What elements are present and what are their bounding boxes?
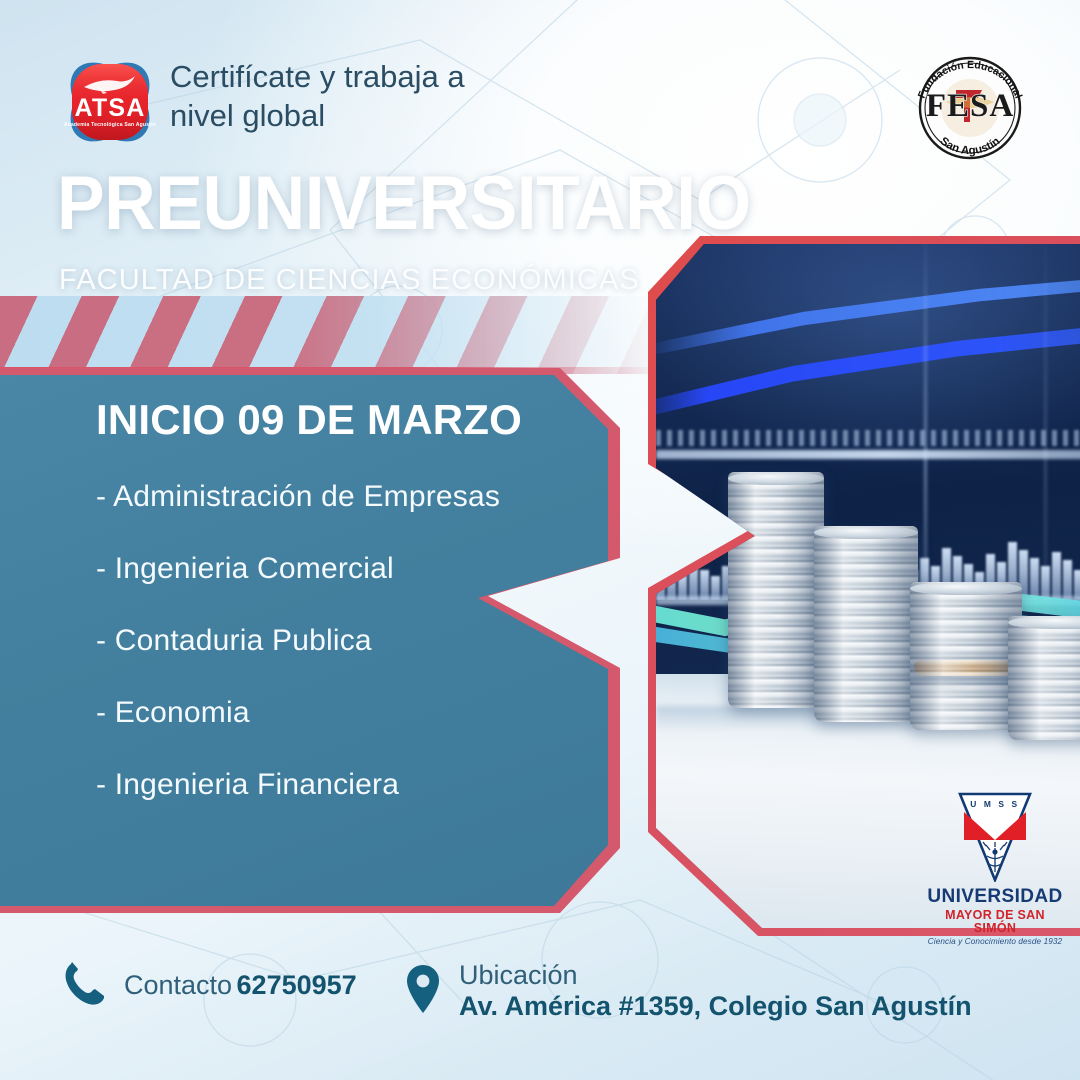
fesa-wordmark: FESA	[926, 88, 1014, 124]
contact-value[interactable]: 62750957	[237, 970, 357, 1000]
stripe-hatch	[0, 296, 660, 374]
phone-icon	[62, 960, 106, 1011]
atsa-wordmark: ATSA	[75, 94, 146, 122]
umss-subtitle: MAYOR DE SAN SIMÓN	[925, 909, 1065, 934]
course-list: - Administración de Empresas - Ingenieri…	[96, 480, 616, 802]
footer: Contacto 62750957 Ubicación Av. América …	[0, 946, 1080, 1056]
contact-item: Contacto 62750957	[62, 960, 357, 1011]
list-item: - Administración de Empresas	[96, 480, 616, 514]
volume-bar	[1030, 558, 1039, 600]
tagline: Certifícate y trabaja a nivel global	[170, 58, 640, 136]
location-item: Ubicación Av. América #1359, Colegio San…	[405, 960, 1080, 1023]
volume-bar	[1041, 566, 1050, 600]
atsa-subtitle: Academia Tecnológica San Agustín	[64, 122, 156, 128]
umss-shield-icon: U M S S	[956, 790, 1034, 882]
umss-monogram: U M S S	[970, 799, 1019, 809]
volume-bar	[1063, 560, 1072, 600]
umss-logo-icon: U M S S UNIVERSIDAD MAYOR DE SAN SIMÓN C…	[925, 790, 1065, 946]
fesa-seal-icon: Fundación Educacional San Agustín FESA	[906, 50, 1034, 162]
start-date: INICIO 09 DE MARZO	[96, 396, 616, 444]
atsa-logo-icon: ATSA Academia Tecnológica San Agustín	[57, 50, 163, 154]
list-item: - Ingenieria Comercial	[96, 552, 616, 586]
umss-name: UNIVERSIDAD	[925, 887, 1065, 906]
courses-content: INICIO 09 DE MARZO - Administración de E…	[96, 396, 616, 840]
location-value[interactable]: Av. América #1359, Colegio San Agustín	[459, 991, 972, 1021]
diagonal-stripe-band	[0, 296, 660, 374]
list-item: - Economia	[96, 696, 616, 730]
volume-bar	[1052, 552, 1061, 600]
location-label: Ubicación	[459, 960, 578, 990]
tagline-line1: Certifícate y trabaja a	[170, 58, 640, 97]
poster-root: ATSA Academia Tecnológica San Agustín Ce…	[0, 0, 1080, 1080]
list-item: - Ingenieria Financiera	[96, 768, 616, 802]
contact-label: Contacto	[124, 970, 232, 1000]
list-item: - Contaduria Publica	[96, 624, 616, 658]
tagline-line2: nivel global	[170, 97, 640, 136]
page-title: PREUNIVERSITARIO	[57, 166, 771, 242]
map-pin-icon	[405, 964, 441, 1019]
umss-tagline: Ciencia y Conocimiento desde 1932	[925, 937, 1065, 946]
